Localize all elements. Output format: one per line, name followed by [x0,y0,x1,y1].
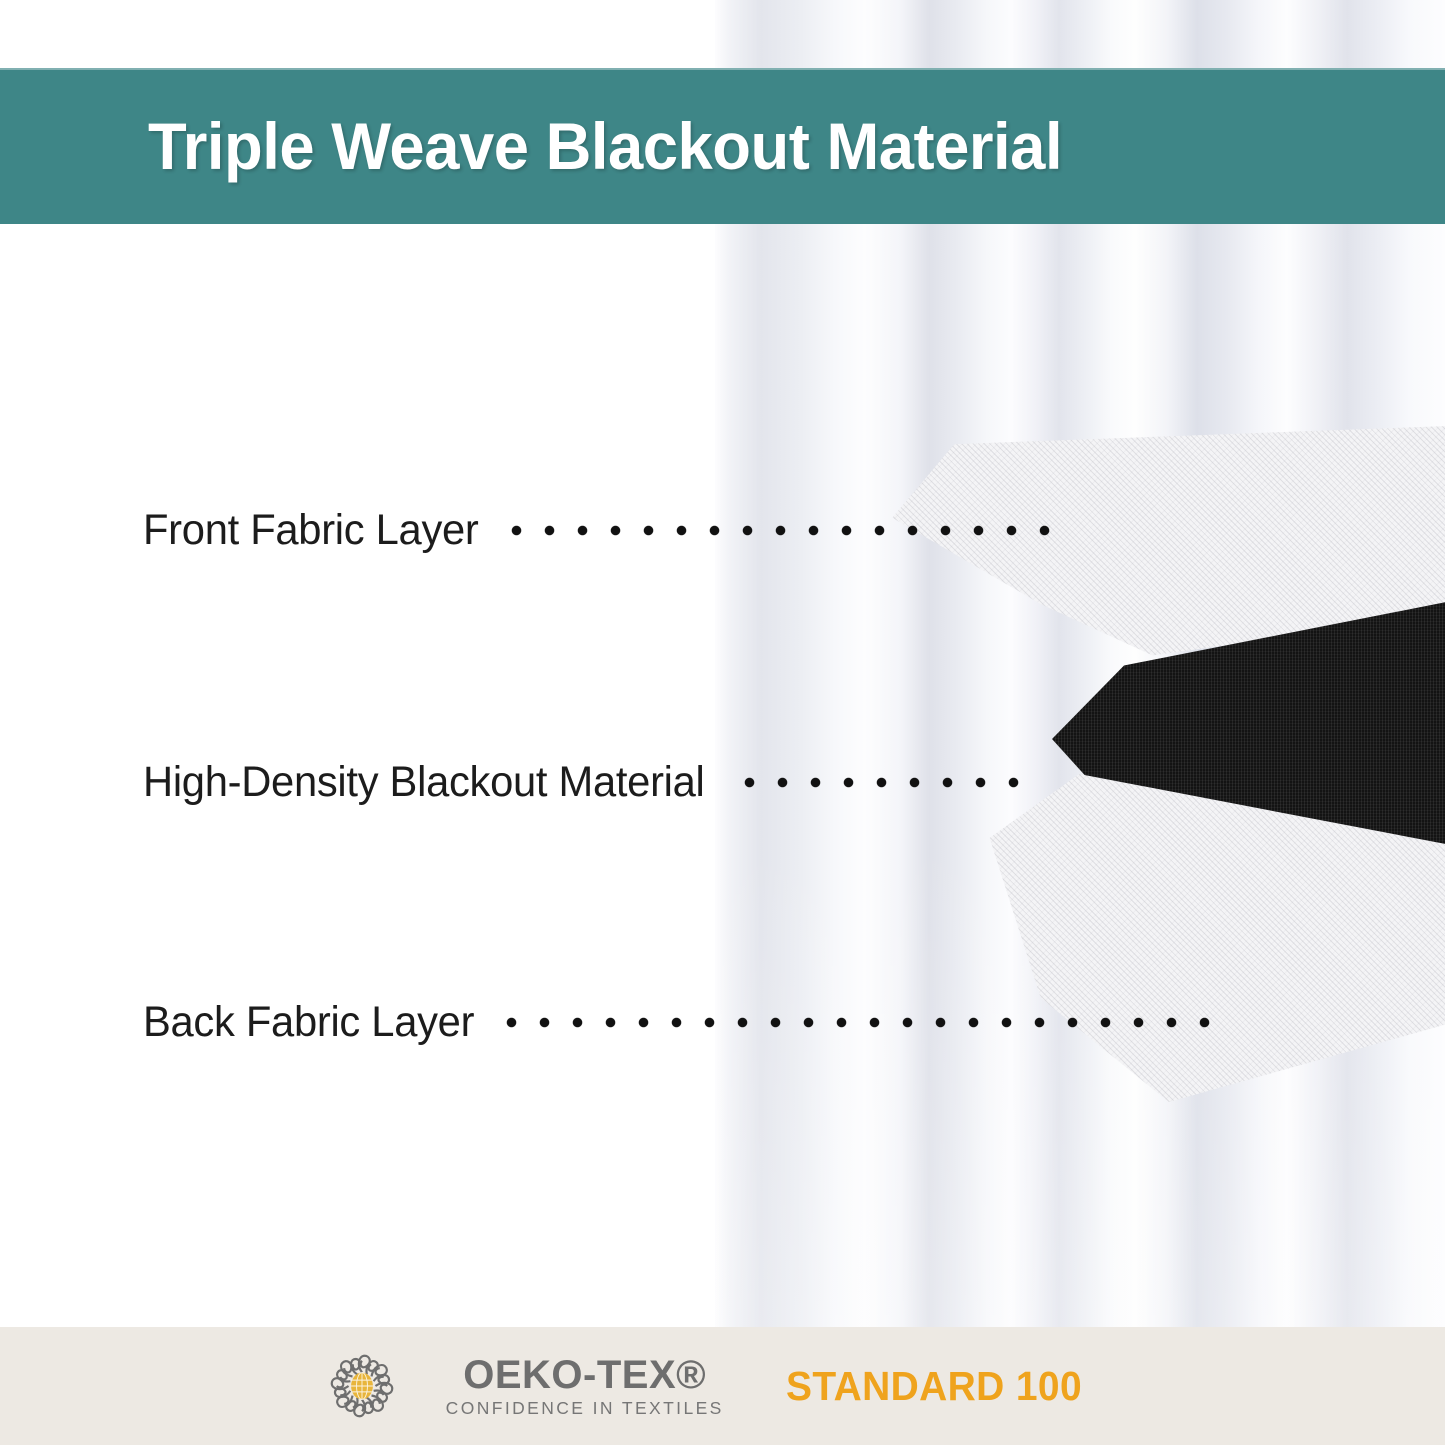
title-banner: Triple Weave Blackout Material [0,68,1445,224]
callout-label: High-Density Blackout Material [143,761,705,804]
globe-icon [351,1373,373,1400]
callout-front-fabric-layer: Front Fabric Layer [143,503,1056,557]
dotted-leader-icon [506,1017,1226,1028]
oeko-tex-logo-icon [320,1344,404,1428]
certification-footer: OEKO-TEX® CONFIDENCE IN TEXTILES STANDAR… [0,1327,1445,1445]
standard-100-label: STANDARD 100 [786,1363,1082,1410]
callout-label: Back Fabric Layer [143,1001,474,1044]
oeko-tex-brand-text: OEKO-TEX® [463,1355,706,1395]
oeko-tex-tagline-text: CONFIDENCE IN TEXTILES [446,1400,724,1418]
product-infographic: Triple Weave Blackout Material Front Fab… [0,0,1445,1445]
dotted-leader-icon [511,525,1056,536]
callout-back-fabric-layer: Back Fabric Layer [143,995,1226,1049]
callout-high-density-blackout-material: High-Density Blackout Material [143,755,1029,809]
oeko-tex-wordmark: OEKO-TEX® CONFIDENCE IN TEXTILES [446,1355,724,1418]
page-title: Triple Weave Blackout Material [148,108,1062,184]
dotted-leader-icon [744,777,1029,788]
callout-label: Front Fabric Layer [143,509,479,552]
